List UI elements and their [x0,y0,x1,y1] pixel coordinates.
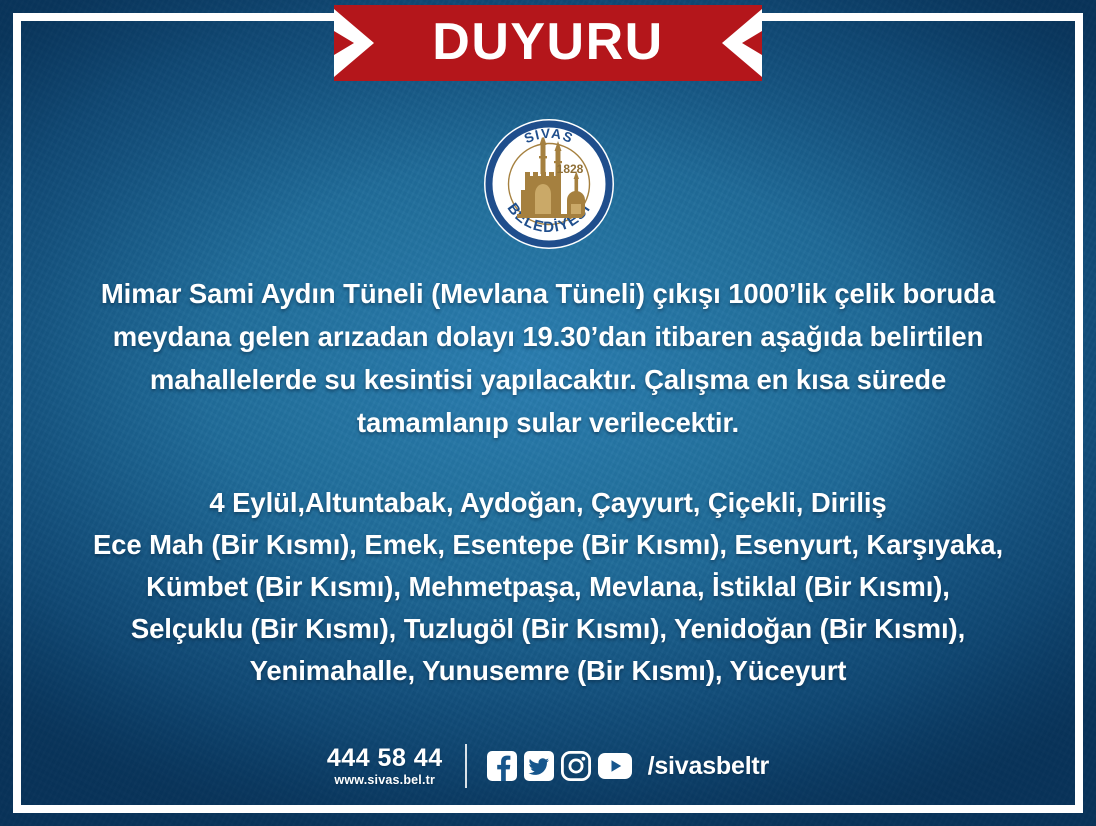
facebook-icon[interactable] [487,751,517,781]
ribbon-title: DUYURU [432,16,663,68]
footer-divider [465,744,467,788]
social-links: /sivasbeltr [487,751,769,781]
social-handle: /sivasbeltr [648,752,769,781]
ribbon-body: DUYURU [334,5,762,81]
poster-footer: 444 58 44 www.sivas.bel.tr /s [0,744,1096,788]
announcement-poster: DUYURU SİVAS [0,0,1096,826]
announcement-line: mahallelerde su kesintisi yapılacaktır. … [40,358,1056,401]
sivas-belediyesi-logo: SİVAS BELEDİYESİ [483,118,615,250]
neighborhood-line: Kümbet (Bir Kısmı), Mehmetpaşa, Mevlana,… [40,566,1056,608]
announcement-text: Mimar Sami Aydın Tüneli (Mevlana Tüneli)… [40,272,1056,444]
announcement-line: meydana gelen arızadan dolayı 19.30’dan … [40,315,1056,358]
announcement-line: tamamlanıp sular verilecektir. [40,401,1056,444]
affected-neighborhoods-list: 4 Eylül,Altuntabak, Aydoğan, Çayyurt, Çi… [40,482,1056,692]
neighborhood-line: Selçuklu (Bir Kısmı), Tuzlugöl (Bir Kısm… [40,608,1056,650]
chevron-right-icon [334,5,378,81]
neighborhood-line: Ece Mah (Bir Kısmı), Emek, Esentepe (Bir… [40,524,1056,566]
chevron-left-icon [718,5,762,81]
svg-text:1828: 1828 [557,162,584,176]
twitter-icon[interactable] [524,751,554,781]
website-url: www.sivas.bel.tr [327,774,443,787]
contact-block: 444 58 44 www.sivas.bel.tr [327,746,465,787]
neighborhood-line: Yenimahalle, Yunusemre (Bir Kısmı), Yüce… [40,650,1056,692]
phone-number: 444 58 44 [327,746,443,771]
announcement-line: Mimar Sami Aydın Tüneli (Mevlana Tüneli)… [40,272,1056,315]
instagram-icon[interactable] [561,751,591,781]
youtube-icon[interactable] [598,753,632,779]
neighborhood-line: 4 Eylül,Altuntabak, Aydoğan, Çayyurt, Çi… [40,482,1056,524]
duyuru-ribbon-banner: DUYURU [334,5,762,81]
